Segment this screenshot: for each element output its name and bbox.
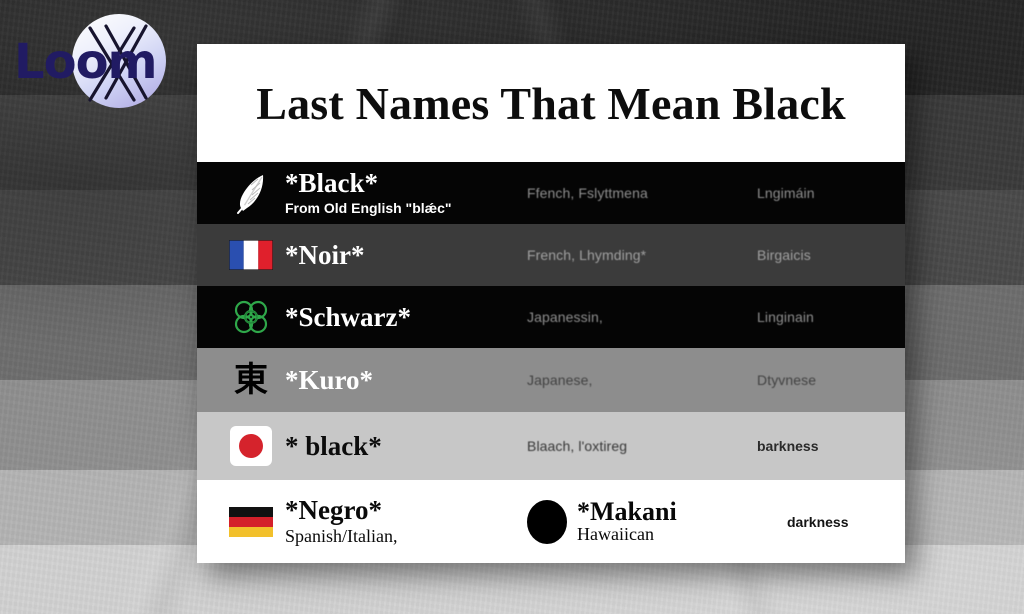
loom-logo[interactable]: Loom bbox=[8, 8, 168, 112]
row-name-cell: *Negro* Spanish/Italian, bbox=[197, 496, 527, 548]
origin-label: Ffench, Fslyttmena bbox=[527, 185, 757, 201]
infographic-card: Last Names That Mean Black *Black* From … bbox=[197, 44, 905, 563]
name-block: *Black* From Old English "blǽc" bbox=[285, 169, 452, 216]
surname-subtitle: From Old English "blǽc" bbox=[285, 200, 452, 217]
origin-label: *Makani bbox=[577, 498, 677, 525]
meaning-label: Birgaicis bbox=[757, 247, 905, 263]
table-row[interactable]: * black* Blaach, l'oxtireg barkness bbox=[197, 412, 905, 480]
table-row[interactable]: *Negro* Spanish/Italian, *Makani Hawaiic… bbox=[197, 480, 905, 563]
surname-label: *Negro* bbox=[285, 496, 397, 524]
makani-group: *Makani Hawaiican bbox=[527, 498, 677, 545]
row-name-cell: *Schwarz* bbox=[197, 295, 527, 339]
black-circle-icon bbox=[527, 500, 567, 544]
flag-germany-icon bbox=[225, 500, 277, 544]
feather-icon bbox=[225, 171, 277, 215]
name-block: *Noir* bbox=[285, 241, 364, 269]
meaning-label: darkness bbox=[787, 514, 905, 530]
origin-label: Japanessin, bbox=[527, 309, 757, 325]
meaning-label: Dtyvnese bbox=[757, 372, 905, 388]
table-row[interactable]: *Black* From Old English "blǽc" Ffench, … bbox=[197, 162, 905, 224]
logo-wordmark: Loom bbox=[14, 38, 157, 86]
row-name-cell: *Noir* bbox=[197, 233, 527, 277]
row-name-cell: * black* bbox=[197, 424, 527, 468]
name-block: *Schwarz* bbox=[285, 303, 411, 331]
page-title: Last Names That Mean Black bbox=[256, 77, 846, 130]
name-block: *Negro* Spanish/Italian, bbox=[285, 496, 397, 548]
origin-label: French, Lhymding* bbox=[527, 247, 757, 263]
card-title-band: Last Names That Mean Black bbox=[197, 44, 905, 162]
origin-sublabel: Hawaiican bbox=[577, 525, 677, 545]
row-name-cell: *Black* From Old English "blǽc" bbox=[197, 169, 527, 216]
surname-label: *Noir* bbox=[285, 241, 364, 269]
flag-japan-icon bbox=[225, 424, 277, 468]
makani-text-block: *Makani Hawaiican bbox=[577, 498, 677, 545]
origin-label: Blaach, l'oxtireg bbox=[527, 438, 757, 454]
surname-label: *Schwarz* bbox=[285, 303, 411, 331]
meaning-label: Lngimáin bbox=[757, 185, 905, 201]
table-row[interactable]: 東 *Kuro* Japanese, Dtyvnese bbox=[197, 348, 905, 412]
surname-subtitle: Spanish/Italian, bbox=[285, 526, 397, 548]
origin-cell: *Makani Hawaiican bbox=[527, 498, 787, 545]
surname-label: * black* bbox=[285, 432, 382, 460]
surname-label: *Black* bbox=[285, 169, 452, 197]
kanji-glyph: 東 bbox=[234, 363, 268, 397]
table-row[interactable]: *Schwarz* Japanessin, Linginain bbox=[197, 286, 905, 348]
meaning-label: Linginain bbox=[757, 309, 905, 325]
flag-france-icon bbox=[225, 233, 277, 277]
origin-label: Japanese, bbox=[527, 372, 757, 388]
name-block: * black* bbox=[285, 432, 382, 460]
kanji-higashi-icon: 東 bbox=[225, 358, 277, 402]
table-row[interactable]: *Noir* French, Lhymding* Birgaicis bbox=[197, 224, 905, 286]
meaning-label: barkness bbox=[757, 438, 905, 454]
name-block: *Kuro* bbox=[285, 366, 373, 394]
row-name-cell: 東 *Kuro* bbox=[197, 358, 527, 402]
celtic-knot-icon bbox=[225, 295, 277, 339]
surname-label: *Kuro* bbox=[285, 366, 373, 394]
